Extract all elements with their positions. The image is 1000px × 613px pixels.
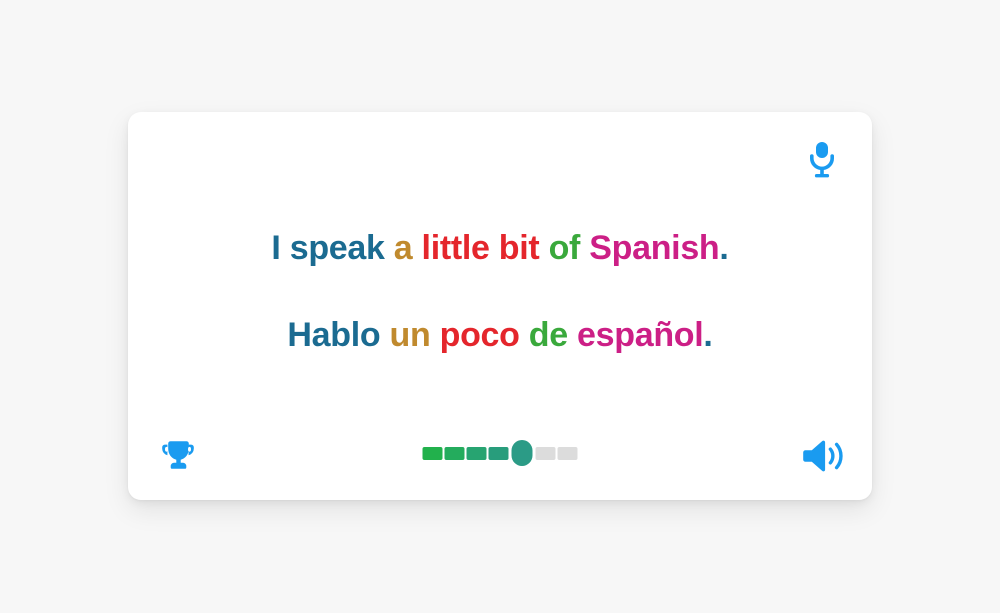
lesson-card: I speak a little bit of Spanish. Hablo u… — [128, 112, 872, 500]
spanish-sentence: Hablo un poco de español. — [128, 316, 872, 355]
speaker-volume-icon — [802, 437, 846, 475]
spanish-word-3: de — [529, 316, 568, 354]
progress-segment[interactable] — [558, 447, 578, 460]
english-word-0: I speak — [271, 229, 384, 267]
progress-segment[interactable] — [423, 447, 443, 460]
english-period: . — [719, 229, 728, 267]
english-sentence: I speak a little bit of Spanish. — [128, 229, 872, 268]
space — [385, 229, 394, 267]
space — [412, 229, 421, 267]
space — [539, 229, 548, 267]
english-word-2: little bit — [422, 229, 540, 267]
space — [430, 316, 439, 354]
space — [580, 229, 589, 267]
microphone-icon — [805, 141, 839, 181]
spanish-word-4: español — [577, 316, 703, 354]
progress-bar[interactable] — [423, 440, 578, 466]
english-word-3: of — [549, 229, 581, 267]
spanish-word-1: un — [390, 316, 431, 354]
trophy-button[interactable] — [155, 433, 201, 479]
trophy-icon — [160, 439, 196, 473]
space — [568, 316, 577, 354]
english-word-1: a — [394, 229, 413, 267]
microphone-button[interactable] — [799, 138, 845, 184]
progress-current-marker[interactable] — [512, 440, 533, 466]
spanish-word-2: poco — [440, 316, 520, 354]
progress-segment[interactable] — [467, 447, 487, 460]
progress-segment[interactable] — [445, 447, 465, 460]
speaker-button[interactable] — [798, 432, 850, 480]
spanish-period: . — [703, 316, 712, 354]
spanish-word-0: Hablo — [287, 316, 380, 354]
progress-segment[interactable] — [489, 447, 509, 460]
progress-segment[interactable] — [536, 447, 556, 460]
english-word-4: Spanish — [589, 229, 719, 267]
space — [380, 316, 389, 354]
space — [520, 316, 529, 354]
